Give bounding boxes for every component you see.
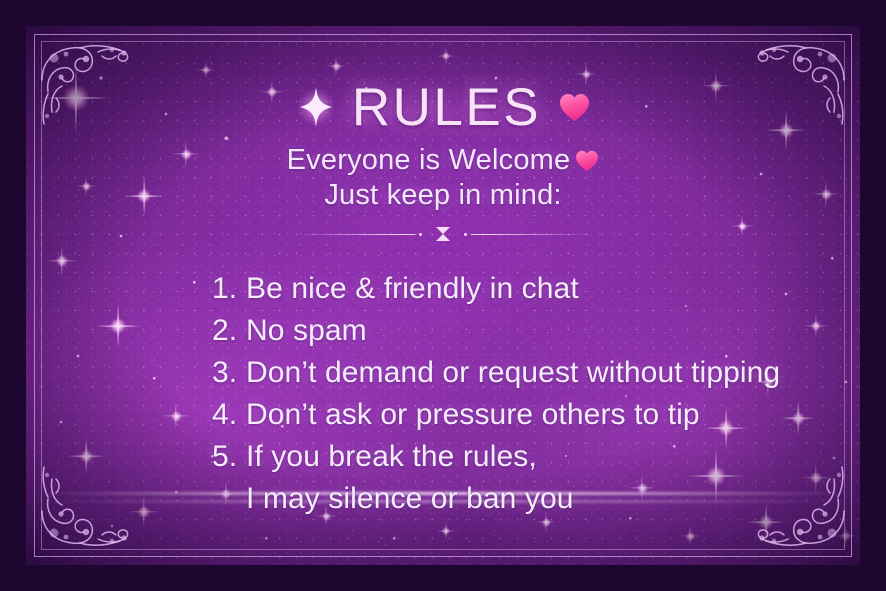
list-item: 5. If you break the rules, <box>212 436 886 478</box>
list-item: 1. Be nice & friendly in chat <box>212 268 886 310</box>
list-item: 2. No spam <box>212 310 886 352</box>
divider <box>293 226 593 242</box>
divider-line-right <box>471 234 593 235</box>
poster-content: RULES Everyone is Welcome Just keep in m… <box>0 0 886 591</box>
subtitle-line-1: Everyone is Welcome <box>287 144 600 177</box>
rule-text: Don’t ask or pressure others to tip <box>246 394 886 436</box>
rule-number: 3. <box>212 352 246 394</box>
diamond-ornament-icon <box>434 226 452 242</box>
rule-text: Be nice & friendly in chat <box>246 268 886 310</box>
rule-text: Don’t demand or request without tipping <box>246 352 886 394</box>
rule-text: If you break the rules, <box>246 436 886 478</box>
divider-dot <box>464 233 467 236</box>
subtitle-line-2: Just keep in mind: <box>324 179 561 212</box>
rule-number: 5. <box>212 436 246 478</box>
rule-number: 1. <box>212 268 246 310</box>
list-item: 4. Don’t ask or pressure others to tip <box>212 394 886 436</box>
rule-continuation: I may silence or ban you <box>212 478 886 520</box>
sparkle-four-point-icon <box>296 86 336 128</box>
heart-icon <box>559 93 590 122</box>
rule-number: 4. <box>212 394 246 436</box>
title-row: RULES <box>296 78 590 136</box>
heart-icon <box>575 150 599 172</box>
rule-text: No spam <box>246 310 886 352</box>
list-item: 3. Don’t demand or request without tippi… <box>212 352 886 394</box>
rule-number: 2. <box>212 310 246 352</box>
rules-list: 1. Be nice & friendly in chat 2. No spam… <box>0 268 886 520</box>
page-title: RULES <box>352 81 541 134</box>
rules-poster: RULES Everyone is Welcome Just keep in m… <box>0 0 886 591</box>
divider-line-left <box>293 234 415 235</box>
divider-dot <box>419 233 422 236</box>
subtitle-line-1-text: Everyone is Welcome <box>287 144 571 177</box>
